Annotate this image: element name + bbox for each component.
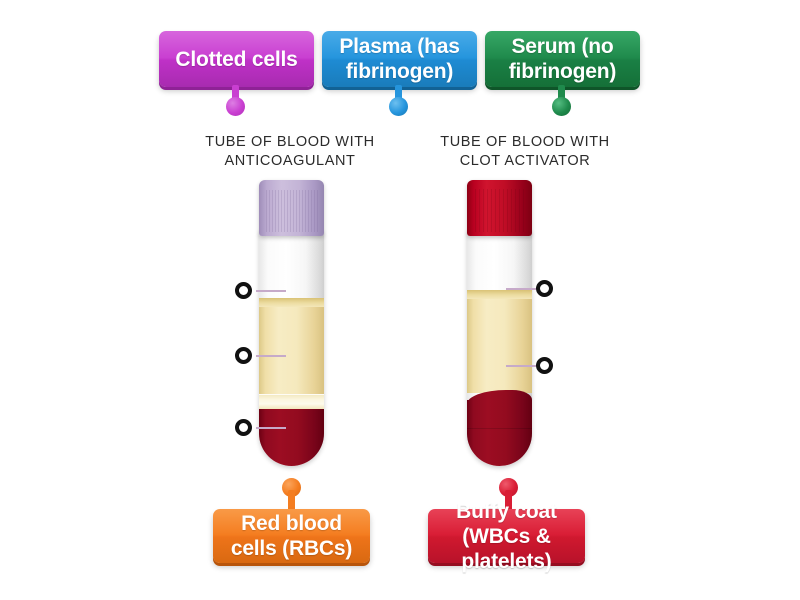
marker-ring-buffy-coat-left[interactable] (235, 347, 252, 364)
leader-line-buffy-coat-left (256, 355, 286, 357)
label-rbc-text: Red blood cells (RBCs) (221, 511, 362, 561)
label-serum-text: Serum (no fibrinogen) (493, 34, 632, 84)
leader-line-rbc (256, 427, 286, 429)
layer-red-blood-cells (259, 409, 324, 466)
label-buffy-coat[interactable]: Buffy coat (WBCs & platelets) (428, 509, 585, 563)
red-cap (467, 180, 532, 236)
label-rbc[interactable]: Red blood cells (RBCs) (213, 509, 370, 563)
connector-knob-plasma[interactable] (389, 97, 408, 116)
label-clotted-cells-text: Clotted cells (175, 47, 297, 72)
tube-clot-activator-glass (467, 228, 532, 466)
label-buffy-coat-text: Buffy coat (WBCs & platelets) (436, 499, 577, 574)
serum-meniscus (467, 290, 532, 299)
layer-plasma (259, 298, 324, 403)
tube-title-clot-activator-line2: CLOT ACTIVATOR (415, 152, 635, 171)
plasma-meniscus (259, 298, 324, 307)
leader-line-plasma (256, 290, 286, 292)
tube-title-anticoagulant-line1: TUBE OF BLOOD WITH (180, 133, 400, 152)
lavender-cap (259, 180, 324, 236)
diagram-canvas: Clotted cells Plasma (has fibrinogen) Se… (0, 0, 800, 600)
marker-ring-plasma[interactable] (235, 282, 252, 299)
tube-anticoagulant (259, 180, 324, 466)
connector-knob-serum[interactable] (552, 97, 571, 116)
connector-knob-clotted-cells[interactable] (226, 97, 245, 116)
leader-line-clotted-cells (506, 365, 536, 367)
tube-title-clot-activator: TUBE OF BLOOD WITH CLOT ACTIVATOR (415, 133, 635, 171)
marker-ring-rbc[interactable] (235, 419, 252, 436)
tube-title-clot-activator-line1: TUBE OF BLOOD WITH (415, 133, 635, 152)
marker-ring-serum[interactable] (536, 280, 553, 297)
layer-serum (467, 290, 532, 393)
label-serum[interactable]: Serum (no fibrinogen) (485, 31, 640, 87)
label-plasma[interactable]: Plasma (has fibrinogen) (322, 31, 477, 87)
tube-anticoagulant-glass (259, 228, 324, 466)
tube-title-anticoagulant: TUBE OF BLOOD WITH ANTICOAGULANT (180, 133, 400, 171)
leader-line-serum (506, 288, 536, 290)
layer-clotted-cells (467, 400, 532, 466)
label-clotted-cells[interactable]: Clotted cells (159, 31, 314, 87)
marker-ring-clotted-cells[interactable] (536, 357, 553, 374)
label-plasma-text: Plasma (has fibrinogen) (330, 34, 469, 84)
tube-title-anticoagulant-line2: ANTICOAGULANT (180, 152, 400, 171)
layer-buffy-coat (259, 394, 324, 410)
tube-clot-activator (467, 180, 532, 466)
